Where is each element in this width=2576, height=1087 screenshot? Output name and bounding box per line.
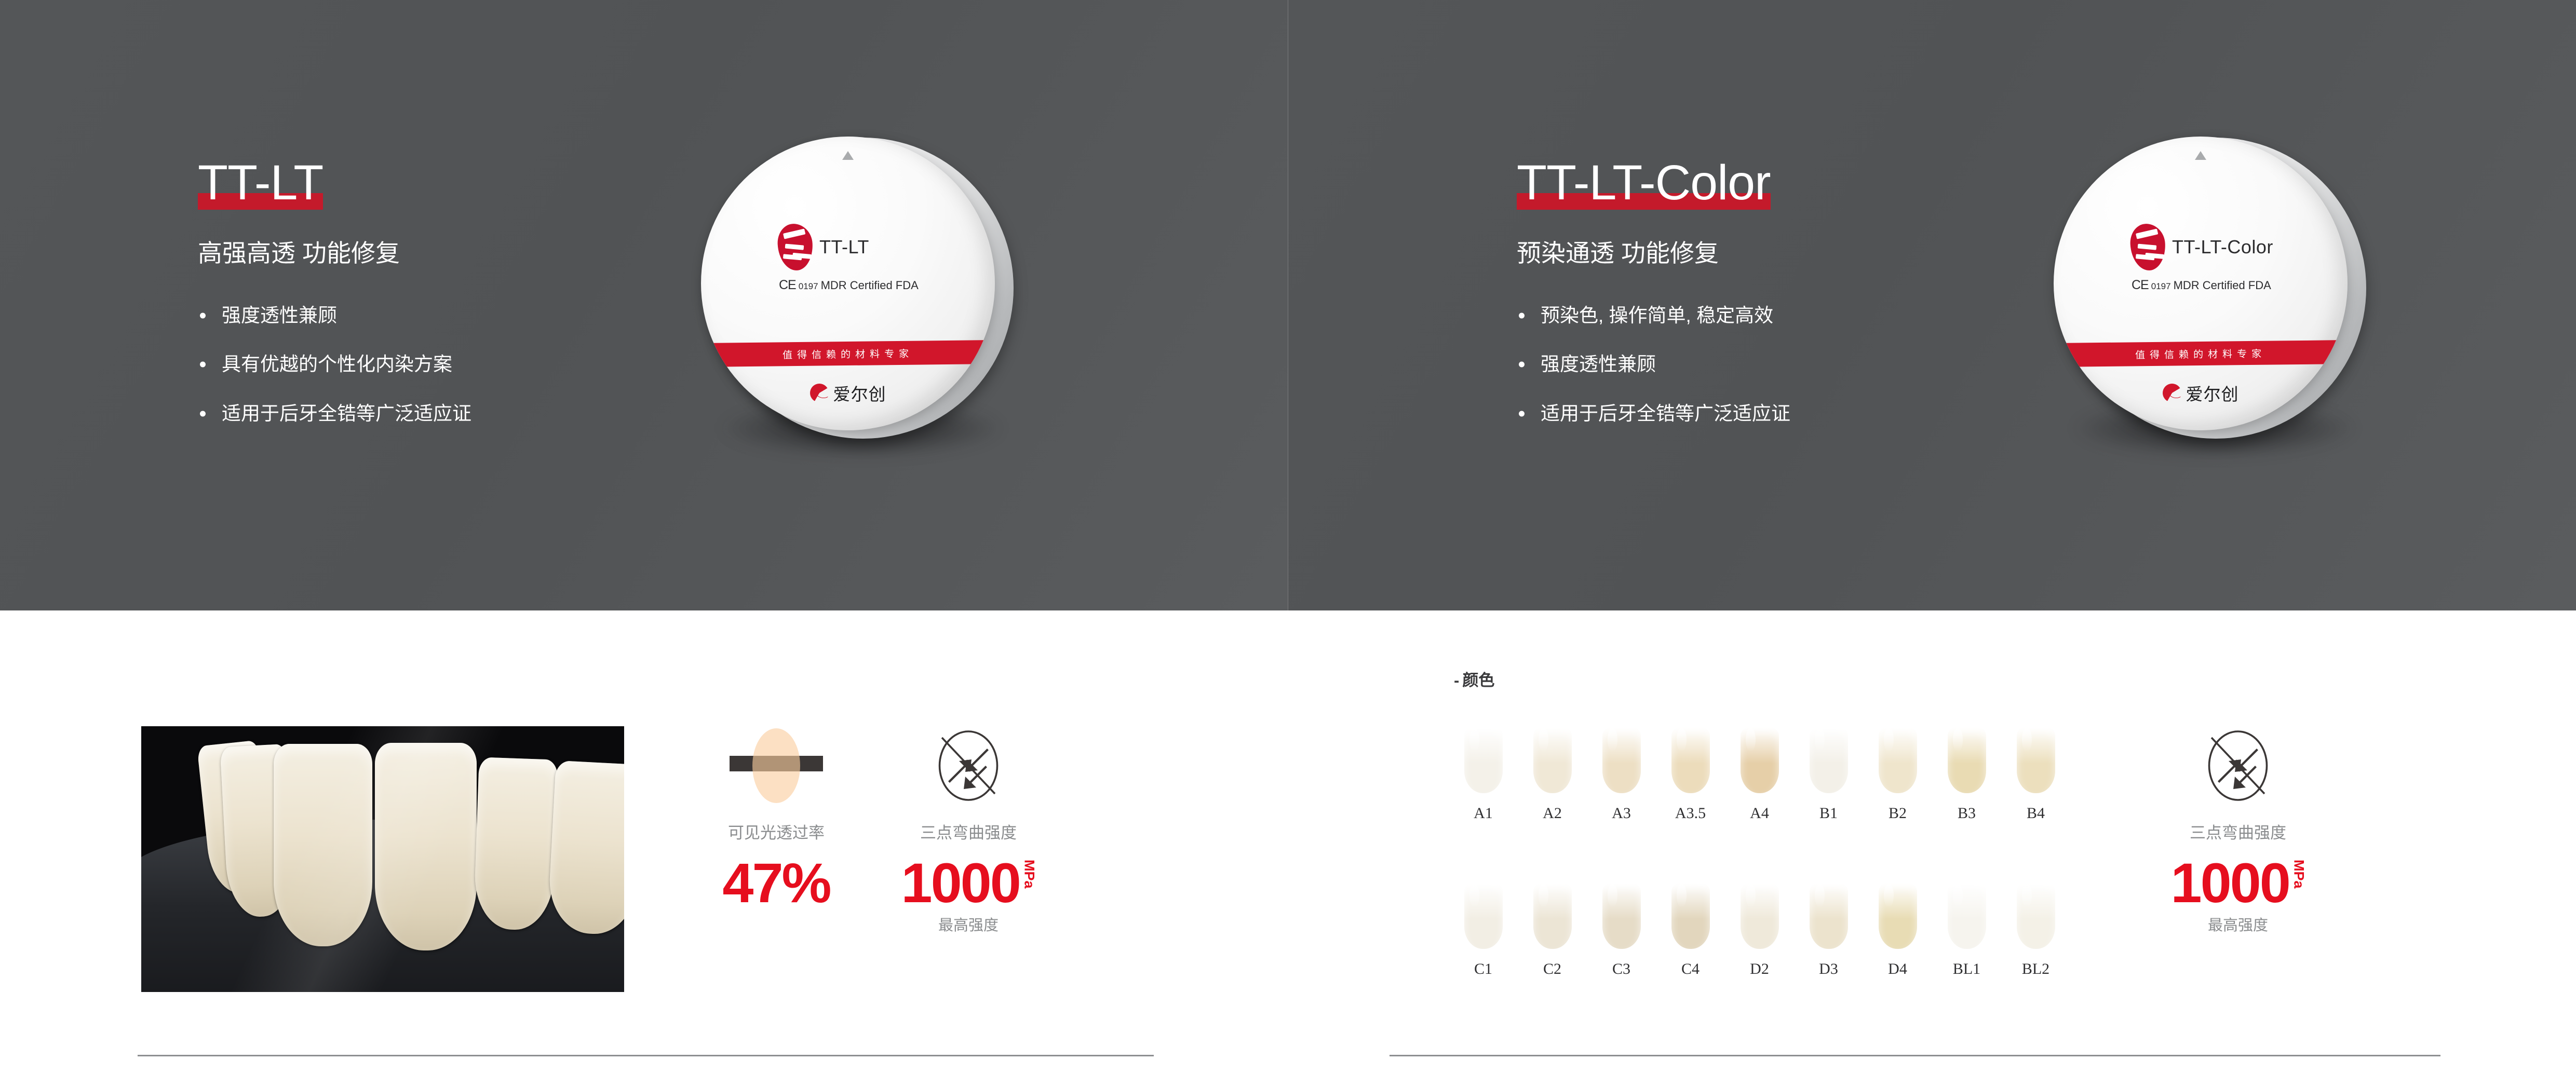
metric-value-wrap: 1000 MPa	[901, 857, 1036, 910]
translucent-disc-shape	[752, 728, 800, 803]
shade-cell[interactable]: B4	[2001, 727, 2070, 822]
metric-translucency: 可见光透过率 47%	[691, 724, 862, 910]
three-point-bending-icon	[2199, 727, 2277, 805]
metric-value-wrap: 1000 MPa	[2171, 857, 2305, 910]
list-item-label: 强度透性兼顾	[1541, 354, 1656, 375]
shade-name-label: B4	[2001, 805, 2070, 822]
shade-name-label: A2	[1518, 805, 1587, 822]
cert-text: MDR Certified FDA	[2174, 279, 2271, 292]
tooth-crown	[473, 757, 558, 931]
shade-cell[interactable]: A3.5	[1656, 727, 1725, 822]
metric-value: 1000	[2171, 857, 2289, 910]
disc-red-band: 值得信赖的材料专家	[701, 340, 995, 367]
metric-icon-area	[691, 724, 862, 807]
label-dash: -	[1454, 671, 1459, 689]
page-title: TT-LT-Color	[1517, 158, 1771, 208]
metric-caption: 三点弯曲强度	[2152, 820, 2324, 843]
metric-icon-area	[883, 724, 1054, 807]
tooth-crown	[547, 760, 624, 936]
product-slide: TT-LT 高强高透 功能修复 强度透性兼顾 具有优越的个性化内染方案 适用于后…	[0, 0, 2576, 1087]
disc-company-logo: 爱尔创	[701, 381, 995, 405]
disc-face: TT-LT-Color CE 0197 MDR Certified FDA 值得…	[2054, 137, 2348, 430]
page-title: TT-LT	[198, 158, 323, 208]
list-item-label: 适用于后牙全锆等广泛适应证	[1541, 403, 1790, 424]
bullet-dot-icon	[1519, 362, 1525, 368]
panel-text-tt-lt: TT-LT 高强高透 功能修复 强度透性兼顾 具有优越的个性化内染方案 适用于后…	[198, 158, 471, 425]
disc-band-text: 值得信赖的材料专家	[2135, 346, 2266, 361]
bottom-divider-right	[1390, 1055, 2440, 1056]
shade-name-label: C4	[1656, 960, 1725, 978]
shade-cell[interactable]: B2	[1863, 727, 1932, 822]
list-item: 适用于后牙全锆等广泛适应证	[1517, 402, 1790, 425]
shade-cell[interactable]: C1	[1449, 882, 1518, 978]
shade-row-2: C1C2C3C4D2D3D4BL1BL2	[1449, 882, 2070, 978]
list-item-label: 适用于后牙全锆等广泛适应证	[222, 403, 471, 424]
company-name: 爱尔创	[2186, 381, 2239, 405]
panel-subtitle: 高强高透 功能修复	[198, 238, 471, 269]
metric-unit: MPa	[1022, 860, 1036, 889]
shade-row-1: A1A2A3A3.5A4B1B2B3B4	[1449, 727, 2070, 822]
bullet-dot-icon	[200, 312, 206, 318]
shade-name-label: A3.5	[1656, 805, 1725, 822]
disc-certification: CE 0197 MDR Certified FDA	[779, 278, 919, 293]
shade-tab-icon	[1810, 727, 1848, 793]
shade-cell[interactable]: A2	[1518, 727, 1587, 822]
disc-company-logo: 爱尔创	[2054, 381, 2348, 405]
metric-flexural-left: 三点弯曲强度 1000 MPa 最高强度	[883, 724, 1054, 935]
clinical-case-photo	[141, 726, 624, 992]
disc-brand-row: TT-LT	[778, 224, 869, 270]
shade-name-label: B1	[1794, 805, 1863, 822]
disc-face: TT-LT CE 0197 MDR Certified FDA 值得信赖的材料专…	[701, 137, 995, 430]
swoosh-icon	[810, 384, 829, 402]
shade-tab-icon	[1879, 727, 1917, 793]
shade-cell[interactable]: BL2	[2001, 882, 2070, 978]
product-disc-tt-lt: TT-LT CE 0197 MDR Certified FDA 值得信赖的材料专…	[701, 132, 1023, 496]
shade-name-label: BL2	[2001, 960, 2070, 978]
ce-mark-icon: CE	[2132, 278, 2149, 293]
color-section-label: -颜色	[1454, 667, 1494, 690]
metric-value: 1000	[901, 857, 1020, 910]
tooth-crown	[375, 743, 477, 950]
shade-cell[interactable]: C4	[1656, 882, 1725, 978]
bullet-dot-icon	[1519, 312, 1525, 318]
three-point-bending-icon	[929, 727, 1007, 805]
seal-logo-icon	[2129, 223, 2167, 271]
shade-cell[interactable]: B3	[1932, 727, 2001, 822]
panel-subtitle: 预染通透 功能修复	[1517, 238, 1790, 269]
feature-list: 预染色, 操作简单, 稳定高效 强度透性兼顾 适用于后牙全锆等广泛适应证	[1517, 304, 1790, 425]
list-item-label: 预染色, 操作简单, 稳定高效	[1541, 305, 1773, 326]
seal-logo-icon	[777, 223, 814, 271]
shade-tab-icon	[1602, 727, 1641, 793]
title-block-tt-lt-color: TT-LT-Color	[1517, 158, 1771, 210]
shade-name-label: B3	[1932, 805, 2001, 822]
metric-caption: 可见光透过率	[691, 820, 862, 843]
metric-unit: MPa	[2292, 860, 2305, 889]
metric-caption: 三点弯曲强度	[883, 820, 1054, 843]
shade-tab-icon	[1810, 882, 1848, 949]
shade-name-label: D3	[1794, 960, 1863, 978]
shade-tab-icon	[1464, 882, 1503, 949]
shade-tab-icon	[1533, 727, 1572, 793]
shade-cell[interactable]: A1	[1449, 727, 1518, 822]
shade-tab-icon	[1602, 882, 1641, 949]
shade-cell[interactable]: D4	[1863, 882, 1932, 978]
ce-number: 0197	[2151, 281, 2171, 292]
hero-half-right	[1288, 0, 2576, 610]
bullet-dot-icon	[200, 411, 206, 416]
shade-tab-icon	[1948, 727, 1986, 793]
shade-cell[interactable]: A4	[1725, 727, 1794, 822]
shade-name-label: D2	[1725, 960, 1794, 978]
bullet-dot-icon	[1519, 411, 1525, 416]
shade-tab-icon	[1671, 727, 1710, 793]
product-disc-tt-lt-color: TT-LT-Color CE 0197 MDR Certified FDA 值得…	[2054, 132, 2376, 496]
list-item: 预染色, 操作简单, 稳定高效	[1517, 304, 1790, 327]
shade-cell[interactable]: C3	[1587, 882, 1656, 978]
disc-notch-icon	[2195, 151, 2206, 160]
shade-name-label: B2	[1863, 805, 1932, 822]
swoosh-icon	[2163, 384, 2181, 402]
shade-name-label: A4	[1725, 805, 1794, 822]
list-item: 强度透性兼顾	[198, 304, 471, 327]
shade-tab-icon	[1741, 882, 1779, 949]
title-block-tt-lt: TT-LT	[198, 158, 323, 210]
metric-sublabel: 最高强度	[883, 913, 1054, 935]
shade-tab-icon	[1879, 882, 1917, 949]
shade-tab-icon	[1948, 882, 1986, 949]
disc-brand-row: TT-LT-Color	[2130, 224, 2273, 270]
list-item: 强度透性兼顾	[1517, 353, 1790, 376]
shade-name-label: C3	[1587, 960, 1656, 978]
label-text: 颜色	[1462, 671, 1494, 689]
panel-text-tt-lt-color: TT-LT-Color 预染通透 功能修复 预染色, 操作简单, 稳定高效 强度…	[1517, 158, 1790, 425]
feature-list: 强度透性兼顾 具有优越的个性化内染方案 适用于后牙全锆等广泛适应证	[198, 304, 471, 425]
list-item: 具有优越的个性化内染方案	[198, 353, 471, 376]
shade-tab-icon	[2017, 727, 2055, 793]
company-name: 爱尔创	[833, 381, 886, 405]
shade-cell[interactable]: D2	[1725, 882, 1794, 978]
shade-cell[interactable]: C2	[1518, 882, 1587, 978]
translucency-icon	[730, 727, 823, 805]
disc-red-band: 值得信赖的材料专家	[2054, 340, 2348, 367]
bullet-dot-icon	[200, 362, 206, 368]
list-item-label: 强度透性兼顾	[222, 305, 337, 326]
shade-tab-icon	[2017, 882, 2055, 949]
ce-number: 0197	[799, 281, 818, 292]
shade-name-label: D4	[1863, 960, 1932, 978]
disc-model-label: TT-LT-Color	[2172, 236, 2273, 258]
ce-mark-icon: CE	[779, 278, 796, 293]
shade-name-label: C1	[1449, 960, 1518, 978]
list-item: 适用于后牙全锆等广泛适应证	[198, 402, 471, 425]
shade-tab-icon	[1671, 882, 1710, 949]
metric-icon-area	[2152, 724, 2324, 807]
shade-cell[interactable]: B1	[1794, 727, 1863, 822]
list-item-label: 具有优越的个性化内染方案	[222, 354, 452, 375]
shade-cell[interactable]: A3	[1587, 727, 1656, 822]
disc-band-text: 值得信赖的材料专家	[783, 346, 913, 361]
shade-cell[interactable]: BL1	[1932, 882, 2001, 978]
shade-name-label: BL1	[1932, 960, 2001, 978]
shade-tab-icon	[1533, 882, 1572, 949]
shade-cell[interactable]: D3	[1794, 882, 1863, 978]
disc-model-label: TT-LT	[819, 236, 869, 258]
shade-name-label: A3	[1587, 805, 1656, 822]
disc-notch-icon	[842, 151, 854, 160]
hero-half-left	[0, 0, 1288, 610]
shade-tab-icon	[1741, 727, 1779, 793]
panel-divider	[1288, 0, 1288, 610]
shade-tab-icon	[1464, 727, 1503, 793]
metric-flexural-right: 三点弯曲强度 1000 MPa 最高强度	[2152, 724, 2324, 935]
shade-name-label: A1	[1449, 805, 1518, 822]
shade-name-label: C2	[1518, 960, 1587, 978]
metric-sublabel: 最高强度	[2152, 913, 2324, 935]
metric-value: 47%	[722, 857, 830, 910]
cert-text: MDR Certified FDA	[821, 279, 919, 292]
bottom-divider-left	[138, 1055, 1154, 1056]
tooth-crown	[274, 744, 372, 946]
disc-certification: CE 0197 MDR Certified FDA	[2132, 278, 2271, 293]
